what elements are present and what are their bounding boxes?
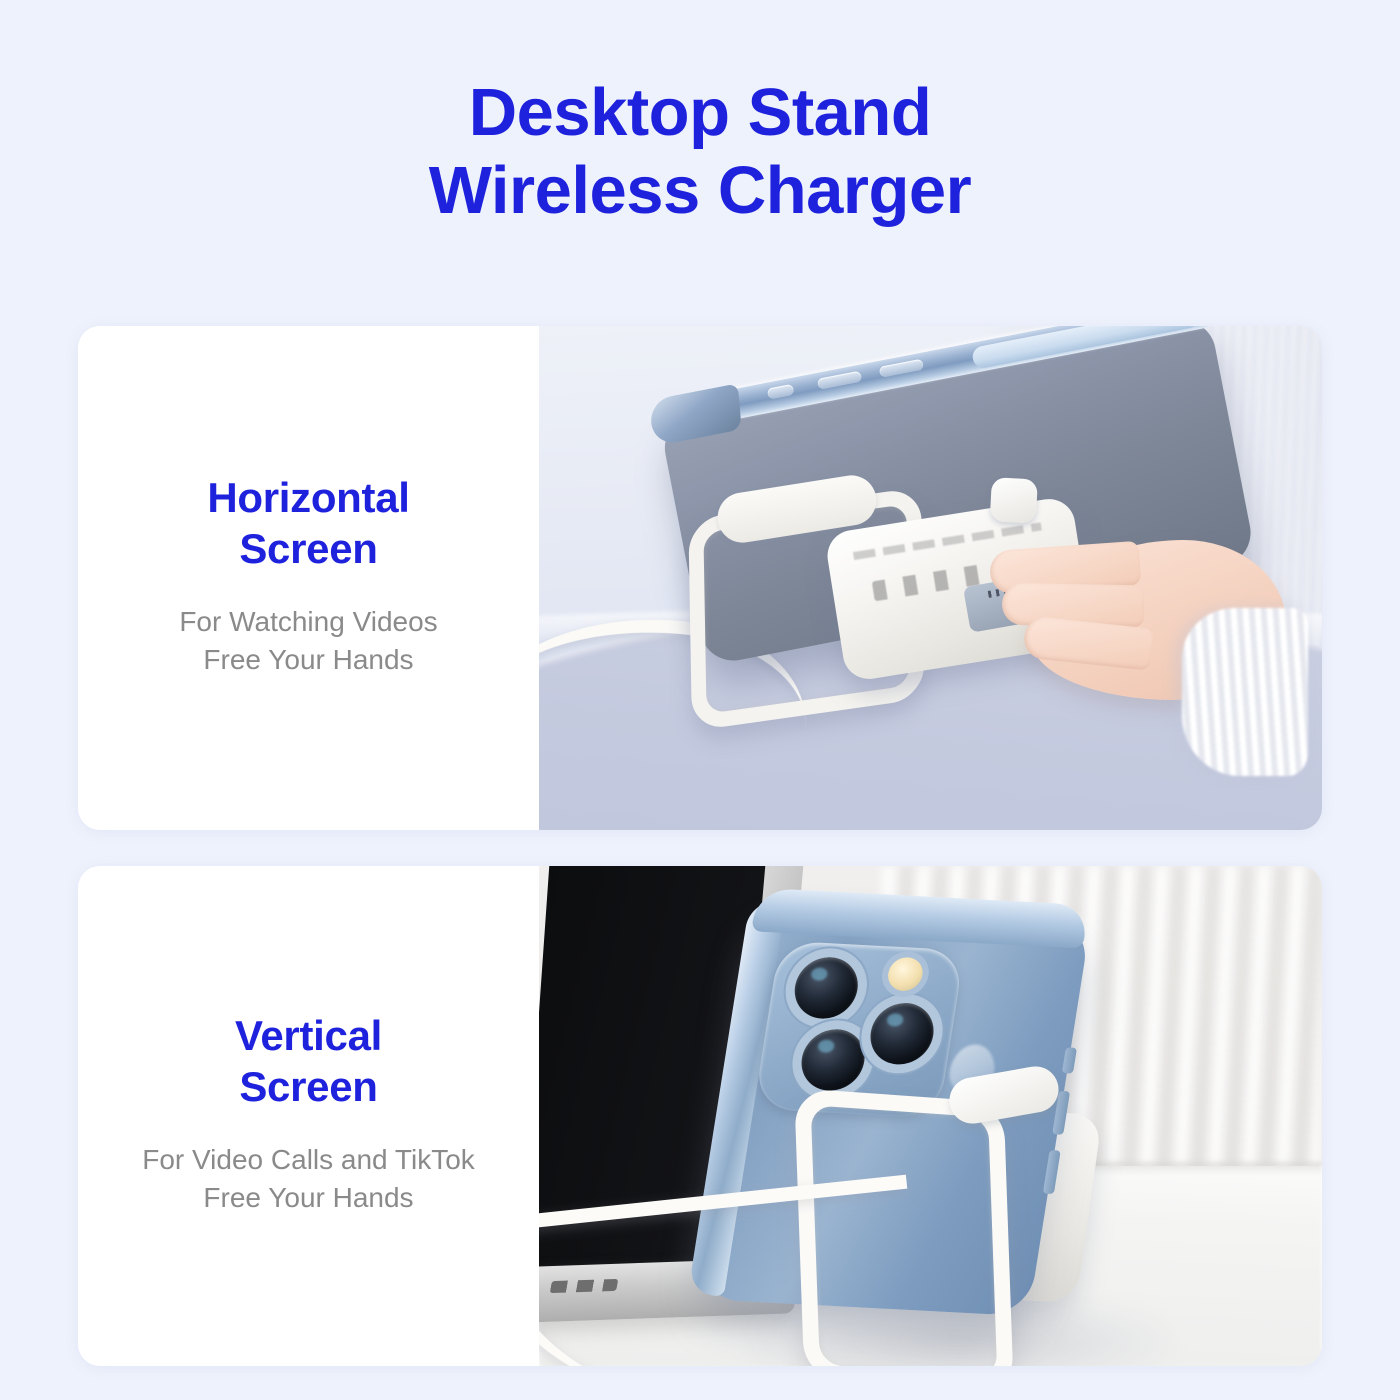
feature-photo-vertical <box>539 866 1322 1366</box>
photo-sweater-sleeve <box>1182 608 1308 776</box>
feature-subtitle-vertical-line-1: For Video Calls and TikTok <box>142 1141 475 1180</box>
photo-lens-highlight-3 <box>886 1013 904 1027</box>
feature-card-horizontal-text: Horizontal Screen For Watching Videos Fr… <box>78 326 539 830</box>
photo-iphone-camera-lens-2 <box>797 1028 869 1092</box>
feature-photo-horizontal <box>539 326 1322 830</box>
photo-hand <box>986 522 1286 732</box>
feature-subtitle-horizontal-line-2: Free Your Hands <box>179 641 437 680</box>
photo-puck-cable-connector <box>990 477 1038 523</box>
photo-iphone-camera-flash <box>886 956 925 991</box>
photo-iphone-camera-lens-3 <box>866 1001 938 1065</box>
feature-heading-horizontal-line-1: Horizontal <box>207 472 409 523</box>
photo-lens-highlight-2 <box>817 1039 835 1053</box>
page-title-line-2: Wireless Charger <box>429 152 972 230</box>
page-header: Desktop Stand Wireless Charger <box>0 0 1400 300</box>
feature-subtitle-horizontal: For Watching Videos Free Your Hands <box>179 603 437 680</box>
photo-iphone-camera-lens-1 <box>790 956 862 1020</box>
page-title-line-1: Desktop Stand <box>469 74 932 152</box>
feature-heading-vertical: Vertical Screen <box>235 1010 382 1112</box>
product-feature-page: Desktop Stand Wireless Charger Horizonta… <box>0 0 1400 1400</box>
feature-subtitle-horizontal-line-1: For Watching Videos <box>179 603 437 642</box>
feature-heading-vertical-line-1: Vertical <box>235 1010 382 1061</box>
feature-heading-horizontal: Horizontal Screen <box>207 472 409 574</box>
feature-heading-vertical-line-2: Screen <box>235 1061 382 1112</box>
feature-heading-horizontal-line-2: Screen <box>207 523 409 574</box>
feature-card-vertical-text: Vertical Screen For Video Calls and TikT… <box>78 866 539 1366</box>
feature-card-horizontal: Horizontal Screen For Watching Videos Fr… <box>78 326 1322 830</box>
feature-subtitle-vertical: For Video Calls and TikTok Free Your Han… <box>142 1141 475 1218</box>
photo-lens-highlight-1 <box>810 967 828 981</box>
feature-subtitle-vertical-line-2: Free Your Hands <box>142 1179 475 1218</box>
feature-card-vertical: Vertical Screen For Video Calls and TikT… <box>78 866 1322 1366</box>
